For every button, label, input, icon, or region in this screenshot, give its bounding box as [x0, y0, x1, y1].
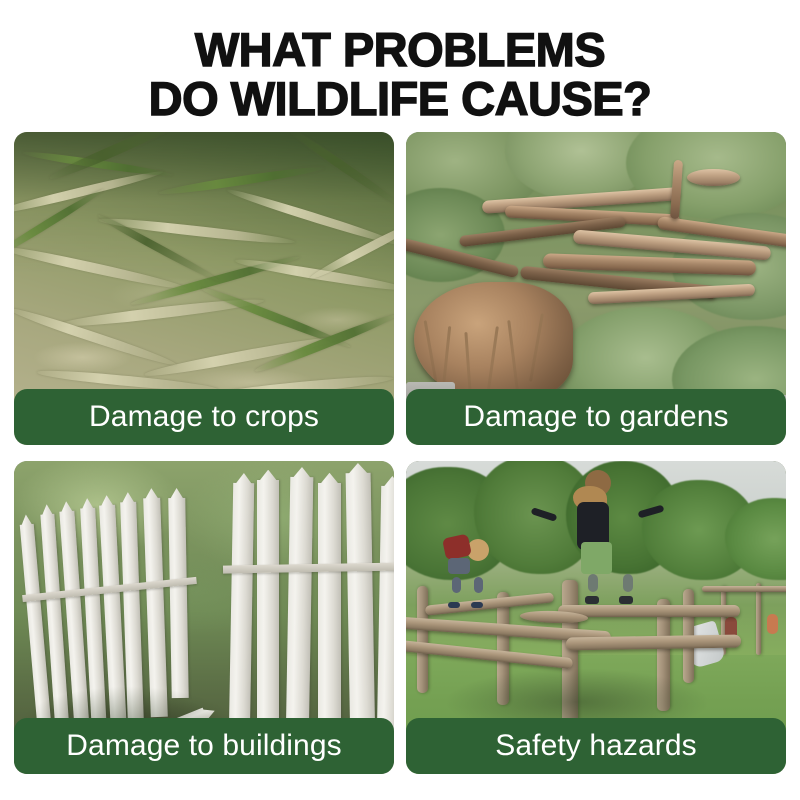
- tile-caption-buildings: Damage to buildings: [14, 718, 394, 774]
- title-line-1: WHAT PROBLEMS: [0, 26, 800, 75]
- problem-tile-gardens[interactable]: Damage to gardens: [406, 132, 786, 445]
- tile-caption-hazards: Safety hazards: [406, 718, 786, 774]
- infographic-root: WHAT PROBLEMS DO WILDLIFE CAUSE?: [0, 0, 800, 800]
- tile-caption-label: Damage to crops: [89, 402, 319, 432]
- tile-caption-label: Damage to buildings: [66, 731, 341, 761]
- problem-tile-crops[interactable]: Damage to crops: [14, 132, 394, 445]
- problem-tile-grid: Damage to crops: [0, 124, 800, 800]
- page-title: WHAT PROBLEMS DO WILDLIFE CAUSE?: [0, 0, 800, 124]
- title-line-2: DO WILDLIFE CAUSE?: [0, 75, 800, 124]
- tile-caption-crops: Damage to crops: [14, 389, 394, 445]
- tile-caption-label: Damage to gardens: [463, 402, 728, 432]
- tile-caption-label: Safety hazards: [495, 731, 697, 761]
- problem-tile-buildings[interactable]: Damage to buildings: [14, 461, 394, 774]
- problem-tile-hazards[interactable]: Safety hazards: [406, 461, 786, 774]
- tile-caption-gardens: Damage to gardens: [406, 389, 786, 445]
